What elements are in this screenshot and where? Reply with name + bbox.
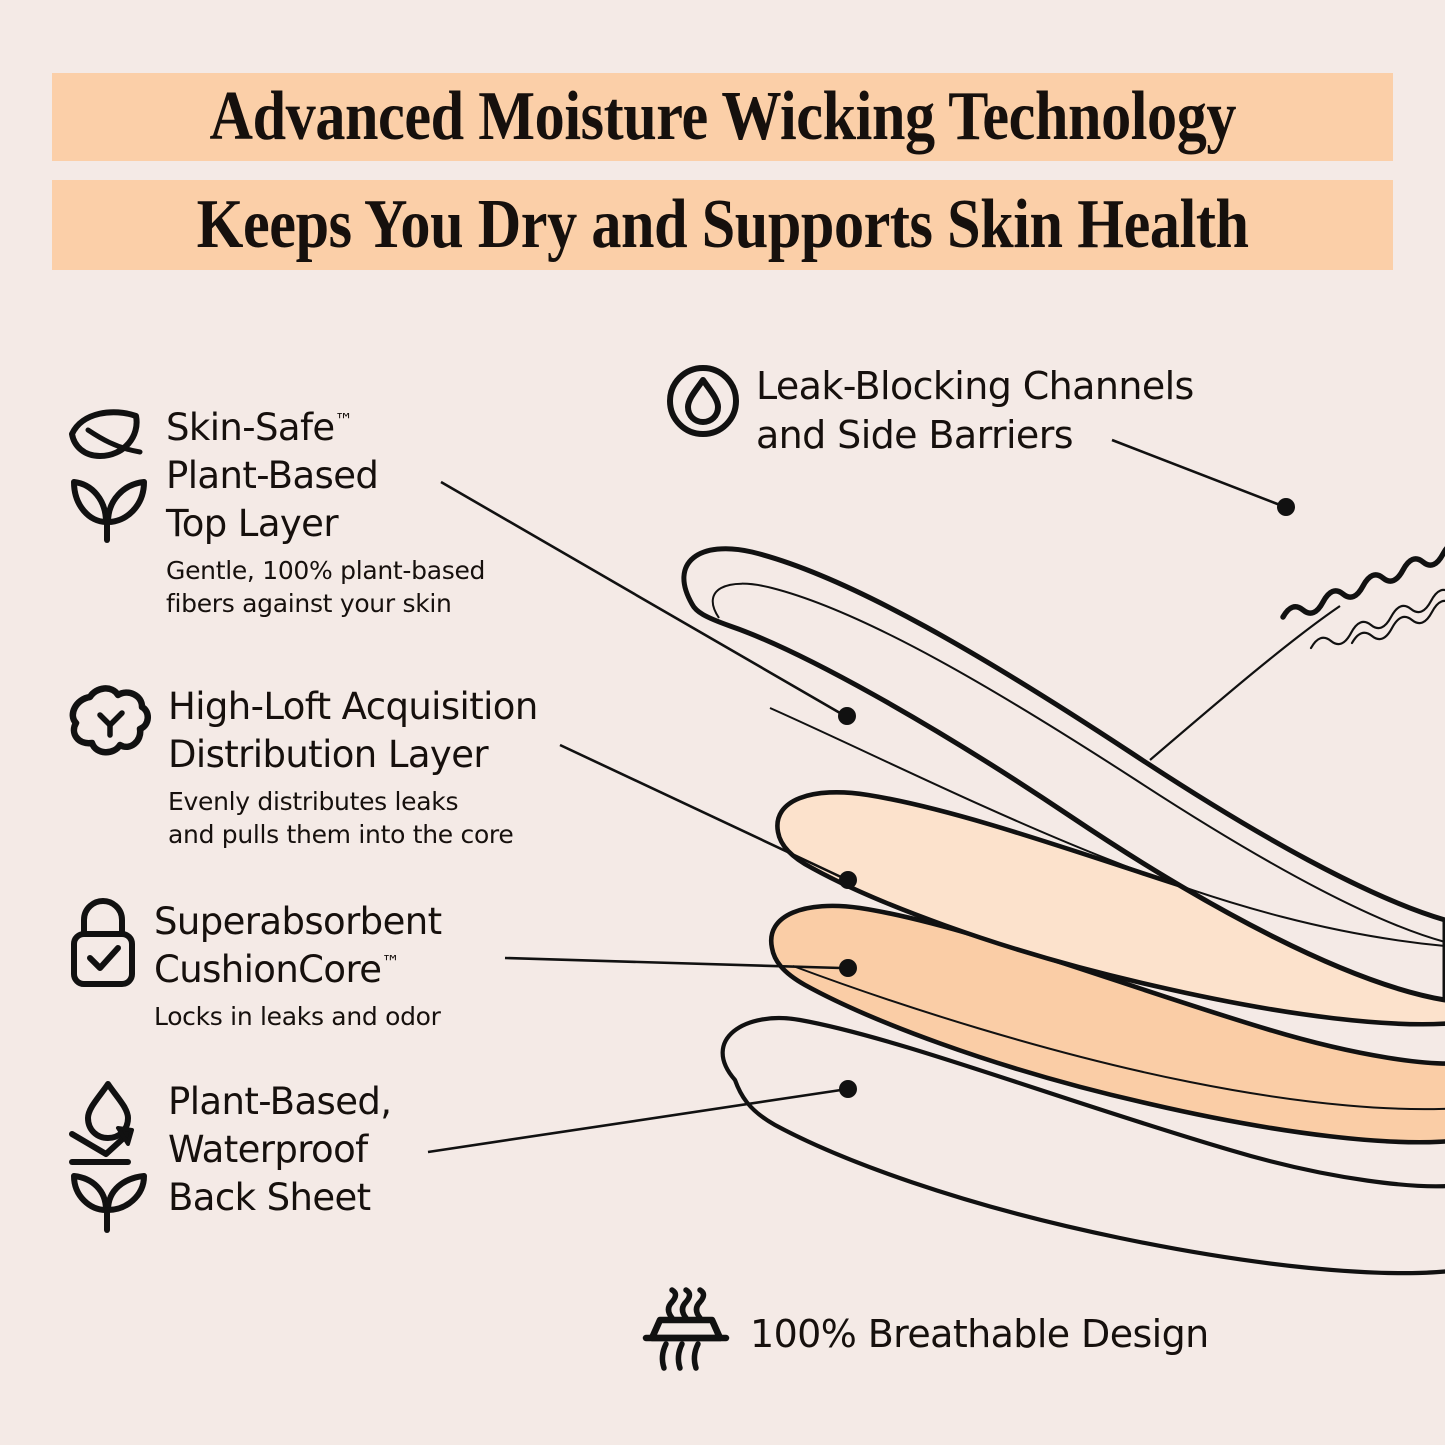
feature-title-top-sheet: Skin-Safe™Plant-BasedTop Layer (166, 404, 485, 548)
leader-dot-leak-channels (1277, 498, 1295, 516)
leaf-sprout-icon (66, 404, 152, 544)
feature-title-leak-channels: Leak-Blocking Channels and Side Barriers (756, 362, 1194, 459)
feature-top-sheet: Skin-Safe™Plant-BasedTop Layer Gentle, 1… (66, 404, 485, 620)
leader-dot-adl (839, 871, 857, 889)
leader-dot-top-layer (838, 707, 856, 725)
side-barrier-base-line (1150, 606, 1340, 760)
side-barrier-wave-thick (1283, 543, 1445, 617)
waterproof-plant-icon (66, 1078, 154, 1216)
feature-leak-blocking-channels: Leak-Blocking Channels and Side Barriers (664, 362, 1194, 459)
lock-check-icon (66, 898, 140, 990)
feature-absorbent-core: SuperabsorbentCushionCore™ Locks in leak… (66, 898, 442, 1033)
feature-title-adl: High-Loft Acquisition Distribution Layer (168, 683, 538, 779)
feature-subtitle-adl: Evenly distributes leaks and pulls them … (168, 785, 538, 851)
breathable-icon (638, 1288, 734, 1380)
feature-subtitle-top-sheet: Gentle, 100% plant-based fibers against … (166, 554, 485, 620)
droplet-circle-icon (664, 362, 742, 440)
leader-dot-core (839, 959, 857, 977)
feature-title-breathable: 100% Breathable Design (750, 1315, 1209, 1353)
cloud-icon (66, 683, 154, 761)
feature-breathable-design: 100% Breathable Design (638, 1288, 1209, 1380)
feature-back-sheet: Plant-Based, Waterproof Back Sheet (66, 1078, 391, 1228)
leader-dot-back-sheet (839, 1080, 857, 1098)
feature-title-back-sheet: Plant-Based, Waterproof Back Sheet (168, 1078, 391, 1222)
feature-acquisition-distribution-layer: High-Loft Acquisition Distribution Layer… (66, 683, 538, 851)
infographic-canvas: Advanced Moisture Wicking Technology Kee… (0, 0, 1445, 1445)
feature-title-core: SuperabsorbentCushionCore™ (154, 898, 442, 994)
feature-subtitle-core: Locks in leaks and odor (154, 1000, 442, 1033)
